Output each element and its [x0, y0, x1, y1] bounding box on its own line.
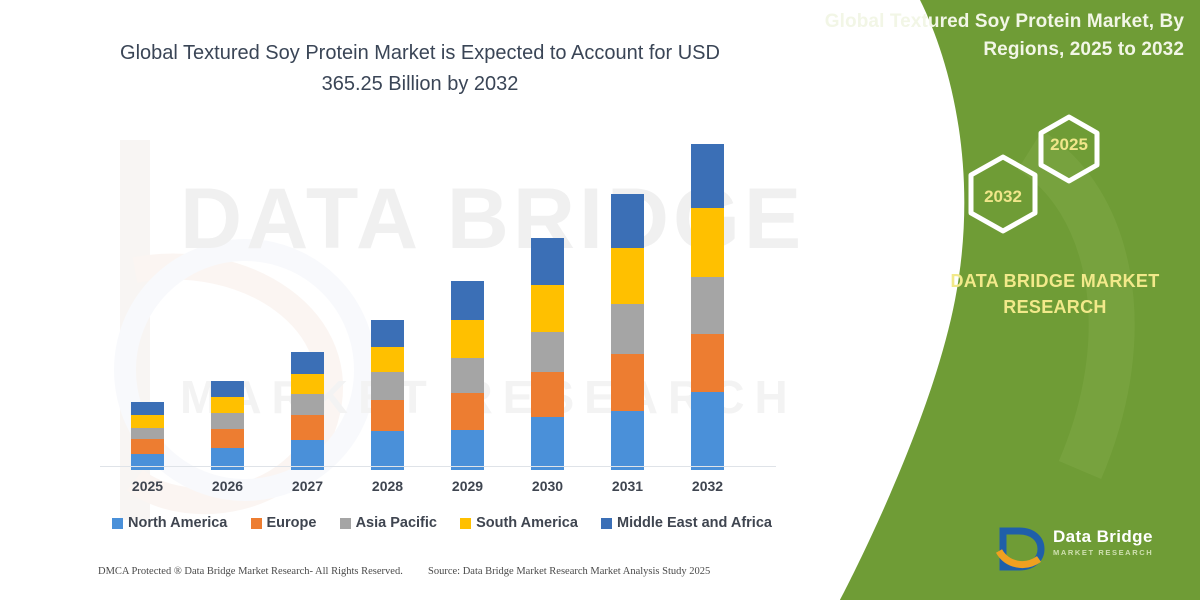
legend-item-north-america[interactable]: North America — [112, 515, 227, 531]
bar-segment-north-america — [371, 431, 404, 470]
legend-label: North America — [128, 515, 227, 531]
x-label-2028: 2028 — [353, 478, 423, 494]
legend-swatch-icon — [601, 518, 612, 529]
bar-segment-south-america — [211, 397, 244, 413]
bar-segment-south-america — [691, 208, 724, 276]
dmca-notice: DMCA Protected ® Data Bridge Market Rese… — [98, 566, 403, 577]
legend-swatch-icon — [112, 518, 123, 529]
x-label-2030: 2030 — [513, 478, 583, 494]
x-label-2027: 2027 — [273, 478, 343, 494]
x-label-2025: 2025 — [113, 478, 183, 494]
bar-segment-south-america — [131, 415, 164, 428]
bar-segment-europe — [611, 354, 644, 411]
bar-segment-south-america — [291, 374, 324, 394]
legend-item-middle-east-and-africa[interactable]: Middle East and Africa — [601, 515, 772, 531]
panel-heading: Global Textured Soy Protein Market, By R… — [824, 8, 1184, 63]
bar-segment-south-america — [611, 248, 644, 304]
bar-segment-europe — [131, 439, 164, 454]
bar-2027 — [291, 352, 324, 470]
bar-segment-south-america — [371, 347, 404, 372]
bar-segment-south-america — [531, 285, 564, 332]
bar-segment-north-america — [691, 392, 724, 470]
x-label-2026: 2026 — [193, 478, 263, 494]
bar-2029 — [451, 281, 484, 470]
bar-segment-asia-pacific — [451, 358, 484, 394]
bar-segment-middle-east-and-africa — [531, 238, 564, 285]
bar-segment-north-america — [531, 417, 564, 470]
bar-segment-middle-east-and-africa — [291, 352, 324, 374]
legend-label: South America — [476, 515, 578, 531]
source-note: Source: Data Bridge Market Research Mark… — [428, 566, 710, 577]
bar-2031 — [611, 194, 644, 470]
bar-segment-asia-pacific — [611, 304, 644, 355]
bar-segment-north-america — [451, 430, 484, 470]
bar-segment-asia-pacific — [131, 428, 164, 440]
legend-swatch-icon — [460, 518, 471, 529]
bar-segment-asia-pacific — [291, 394, 324, 415]
footer: DMCA Protected ® Data Bridge Market Rese… — [0, 566, 800, 586]
bar-segment-south-america — [451, 320, 484, 358]
bar-2032 — [691, 144, 724, 470]
hexagon-label-2025: 2025 — [1029, 135, 1109, 155]
legend-swatch-icon — [340, 518, 351, 529]
bar-2025 — [131, 402, 164, 470]
x-label-2032: 2032 — [673, 478, 743, 494]
x-axis-labels: 20252026202720282029203020312032 — [100, 478, 780, 500]
bar-segment-middle-east-and-africa — [211, 381, 244, 398]
chart-title: Global Textured Soy Protein Market is Ex… — [110, 38, 730, 100]
bar-segment-asia-pacific — [531, 332, 564, 372]
brand-name: DATA BRIDGE MARKET RESEARCH — [930, 268, 1180, 320]
bar-segment-asia-pacific — [371, 372, 404, 399]
infographic-canvas: DATA BRIDGE MARKET RESEARCH Global Textu… — [0, 0, 1200, 600]
dbmr-logo-subtitle: MARKET RESEARCH — [1053, 548, 1153, 557]
legend-item-south-america[interactable]: South America — [460, 515, 578, 531]
bar-segment-middle-east-and-africa — [691, 144, 724, 208]
bar-segment-europe — [291, 415, 324, 440]
bar-segment-europe — [691, 334, 724, 392]
bar-2028 — [371, 320, 404, 470]
x-label-2029: 2029 — [433, 478, 503, 494]
x-label-2031: 2031 — [593, 478, 663, 494]
dbmr-logo: Data Bridge MARKET RESEARCH — [995, 525, 1195, 575]
dbmr-logo-name: Data Bridge — [1053, 527, 1153, 547]
bar-2030 — [531, 238, 564, 470]
legend-label: Asia Pacific — [356, 515, 437, 531]
bar-2026 — [211, 381, 244, 470]
legend-label: Europe — [267, 515, 317, 531]
chart-legend: North AmericaEuropeAsia PacificSouth Ame… — [112, 512, 772, 534]
bar-segment-north-america — [611, 411, 644, 470]
legend-item-asia-pacific[interactable]: Asia Pacific — [340, 515, 437, 531]
bar-segment-middle-east-and-africa — [451, 281, 484, 320]
bar-segment-middle-east-and-africa — [371, 320, 404, 347]
hexagon-label-2032: 2032 — [963, 187, 1043, 207]
legend-item-europe[interactable]: Europe — [251, 515, 317, 531]
bar-segment-middle-east-and-africa — [611, 194, 644, 249]
stacked-bar-plot — [100, 140, 780, 470]
legend-swatch-icon — [251, 518, 262, 529]
bar-segment-europe — [211, 429, 244, 448]
bar-segment-europe — [531, 372, 564, 417]
axis-baseline — [100, 466, 776, 467]
bar-segment-middle-east-and-africa — [131, 402, 164, 416]
hexagon-badges: 2032 2025 — [925, 105, 1185, 245]
bar-segment-asia-pacific — [691, 277, 724, 335]
bar-segment-north-america — [131, 454, 164, 470]
bar-segment-asia-pacific — [211, 413, 244, 429]
bar-segment-europe — [451, 393, 484, 430]
bar-segment-europe — [371, 400, 404, 432]
legend-label: Middle East and Africa — [617, 515, 772, 531]
